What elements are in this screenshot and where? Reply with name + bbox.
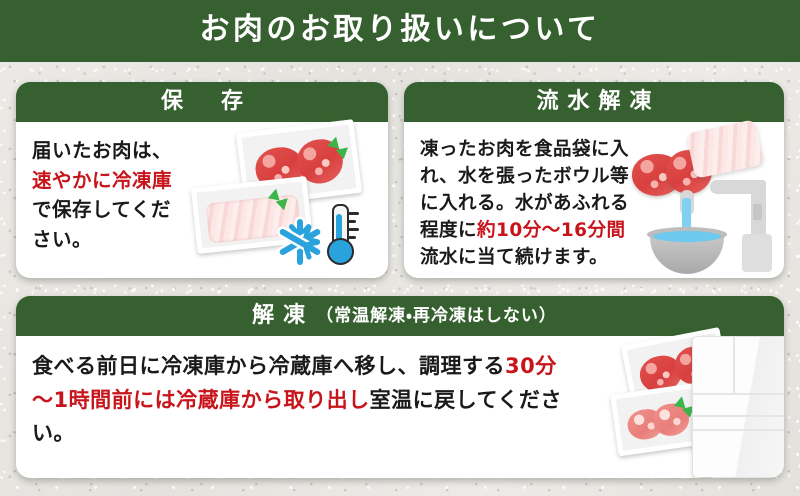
- card-running-water-thaw: 流水解凍 凍ったお肉を食品袋に入 れ、水を張ったボウル等 に入れる。水があふれる…: [404, 82, 784, 278]
- card-running-water-body: 凍ったお肉を食品袋に入 れ、水を張ったボウル等 に入れる。水があふれる 程度に約…: [404, 122, 784, 278]
- text-line: 届いたお肉は、: [32, 139, 172, 162]
- text-line: さい。: [32, 228, 92, 251]
- card-storage-header-title: 保存: [123, 91, 281, 113]
- thermometer-icon: [322, 204, 374, 266]
- text-line: れ、水を張ったボウル等: [420, 166, 629, 187]
- text-line: 程度に: [420, 220, 477, 241]
- card-running-water-header-title: 流水解凍: [527, 91, 660, 113]
- card-thawing-header-note: （常温解凍・再冷凍はしない）: [316, 308, 557, 325]
- text-line: 食べる前日に冷凍庫から冷蔵庫へ移し、調理する: [32, 354, 505, 378]
- card-thawing: 解凍 （常温解凍・再冷凍はしない） 食べる前日に冷凍庫から冷蔵庫へ移し、調理する…: [16, 296, 784, 478]
- text-line-highlight: 速やかに冷凍庫: [32, 169, 172, 192]
- pork-slice-icon: [686, 119, 764, 179]
- card-thawing-header: 解凍 （常温解凍・再冷凍はしない）: [16, 296, 784, 336]
- text-line: で保存してくだ: [32, 198, 171, 221]
- text-line: い。: [32, 421, 75, 445]
- card-thawing-body: 食べる前日に冷凍庫から冷蔵庫へ移し、調理する30分 〜1時間前には冷蔵庫から取り…: [16, 336, 784, 461]
- text-line: 凍ったお肉を食品袋に入: [420, 139, 629, 160]
- page-title: お肉のお取り扱いについて: [199, 15, 600, 45]
- page-header-banner: お肉のお取り扱いについて: [0, 0, 800, 62]
- refrigerator-icon: [692, 336, 784, 478]
- text-line: 流水に当て続けます。: [420, 247, 608, 268]
- text-line-highlight: 30分: [505, 354, 557, 378]
- card-storage-header: 保存: [16, 82, 388, 122]
- text-line-highlight: 約10分〜16分間: [477, 220, 626, 241]
- card-storage: 保存 届いたお肉は、 速やかに冷凍庫 で保存してくだ さい。: [16, 82, 388, 278]
- text-line-highlight: 〜1時間前には冷蔵庫から取り出し: [32, 388, 370, 412]
- card-running-water-text: 凍ったお肉を食品袋に入 れ、水を張ったボウル等 に入れる。水があふれる 程度に約…: [420, 136, 652, 271]
- text-line: に入れる。水があふれる: [420, 193, 629, 214]
- card-storage-text: 届いたお肉は、 速やかに冷凍庫 で保存してくだ さい。: [32, 136, 237, 255]
- snowflake-icon: [272, 214, 328, 270]
- card-thawing-text: 食べる前日に冷凍庫から冷蔵庫へ移し、調理する30分 〜1時間前には冷蔵庫から取り…: [32, 350, 632, 451]
- card-storage-body: 届いたお肉は、 速やかに冷凍庫 で保存してくだ さい。: [16, 122, 388, 265]
- card-running-water-header: 流水解凍: [404, 82, 784, 122]
- text-line: 室温に戻してくださ: [370, 388, 562, 412]
- card-thawing-header-title: 解凍: [243, 305, 314, 327]
